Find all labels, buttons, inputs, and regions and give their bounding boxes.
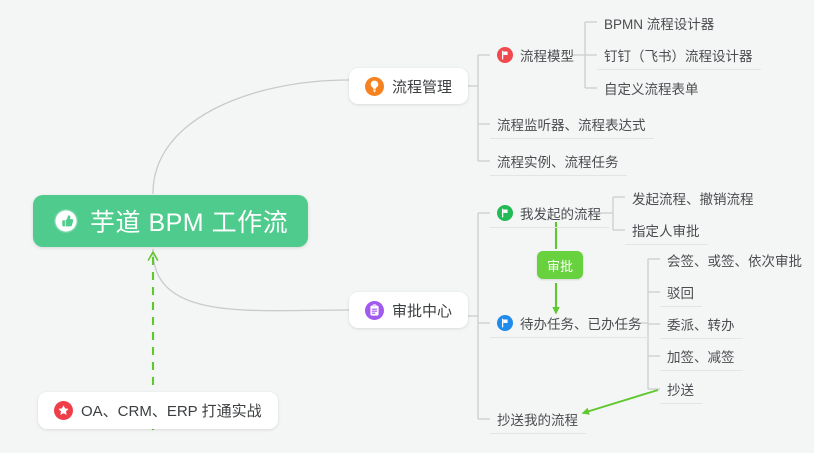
node-label: 会签、或签、依次审批 [667,250,802,270]
node-instance-task[interactable]: 流程实例、流程任务 [490,146,627,176]
edge-cc-pointer [583,390,658,413]
node-dingtalk-feishu-designer[interactable]: 钉钉（飞书）流程设计器 [597,40,761,70]
edge-root-to-process-management [153,80,349,194]
node-start-cancel[interactable]: 发起流程、撤销流程 [625,183,762,213]
node-assignee-approval[interactable]: 指定人审批 [625,215,708,245]
edge-root-to-approval-center [153,249,349,311]
star-icon [54,401,73,420]
node-label: 自定义流程表单 [604,78,699,98]
flag-green-icon [497,205,513,221]
node-label: BPMN 流程设计器 [604,13,714,33]
branch-label: 流程管理 [392,76,452,97]
node-label: 抄送 [667,379,694,399]
node-label: 待办任务、已办任务 [520,313,642,333]
flag-red-icon [497,47,513,63]
node-label: 流程实例、流程任务 [497,151,619,171]
node-bpmn-designer[interactable]: BPMN 流程设计器 [597,8,722,38]
node-delegate-transfer[interactable]: 委派、转办 [660,309,743,339]
node-label: 发起流程、撤销流程 [632,188,754,208]
node-cc-to-me[interactable]: 抄送我的流程 [490,404,586,434]
node-my-initiated[interactable]: 我发起的流程 [490,198,609,228]
lightbulb-icon [365,77,384,96]
node-label: 委派、转办 [667,314,735,334]
node-reject[interactable]: 驳回 [660,277,702,307]
node-label: 驳回 [667,282,694,302]
node-countersign[interactable]: 会签、或签、依次审批 [660,245,810,275]
node-label: 指定人审批 [632,220,700,240]
node-label: 加签、减签 [667,346,735,366]
callout-label: OA、CRM、ERP 打通实战 [81,400,262,421]
node-label: 流程模型 [520,45,574,65]
node-label: 抄送我的流程 [497,409,578,429]
approval-tag-label: 审批 [547,256,573,275]
callout-node[interactable]: OA、CRM、ERP 打通实战 [38,392,278,429]
root-label: 芋道 BPM 工作流 [90,203,288,239]
node-custom-process-form[interactable]: 自定义流程表单 [597,73,707,103]
node-todo-done[interactable]: 待办任务、已办任务 [490,308,650,338]
branch-label: 审批中心 [392,300,452,321]
flag-blue-icon [497,315,513,331]
node-listener-expression[interactable]: 流程监听器、流程表达式 [490,109,654,139]
node-process-model[interactable]: 流程模型 [490,40,582,70]
node-carbon-copy[interactable]: 抄送 [660,374,702,404]
approval-tag: 审批 [537,251,583,279]
branch-process-management[interactable]: 流程管理 [349,68,468,104]
node-label: 钉钉（飞书）流程设计器 [604,45,753,65]
node-label: 流程监听器、流程表达式 [497,114,646,134]
mindmap-canvas: 芋道 BPM 工作流 OA、CRM、ERP 打通实战 流程管理 [0,0,814,453]
node-label: 我发起的流程 [520,203,601,223]
node-add-remove-sign[interactable]: 加签、减签 [660,341,743,371]
branch-approval-center[interactable]: 审批中心 [349,292,468,328]
clipboard-icon [365,301,384,320]
thumbs-up-icon [53,208,79,234]
root-node[interactable]: 芋道 BPM 工作流 [33,195,308,247]
